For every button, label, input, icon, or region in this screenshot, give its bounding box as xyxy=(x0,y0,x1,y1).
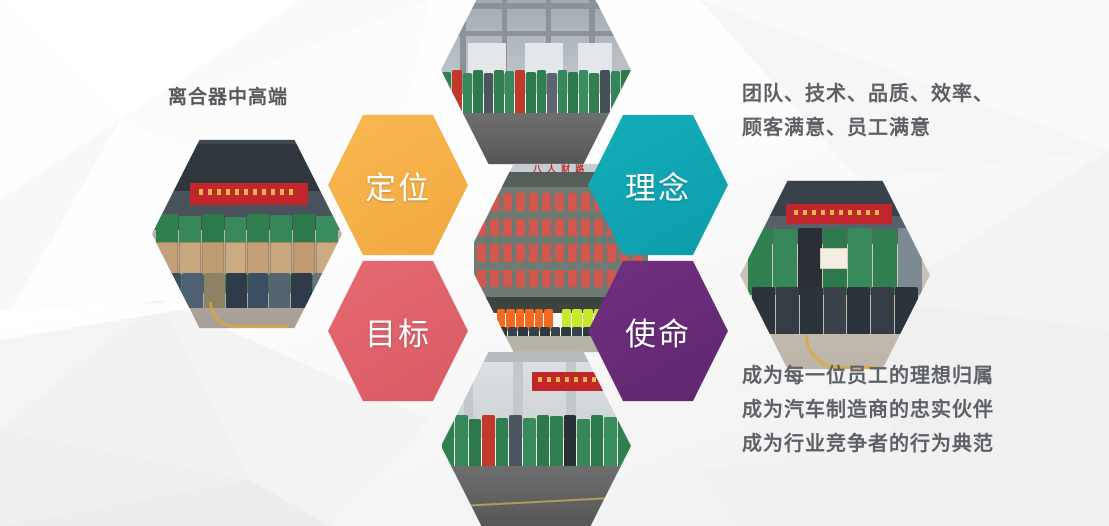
right-bottom-caption-line-3: 成为行业竞争者的行为典范 xyxy=(742,426,994,460)
right-bottom-caption-block: 成为每一位员工的理想归属 成为汽车制造商的忠实伙伴 成为行业竞争者的行为典范 xyxy=(742,358,994,460)
hex-positioning[interactable]: 定位 xyxy=(328,112,468,258)
award-boxes-photo xyxy=(152,136,342,332)
photo-hex-bottom-sports-meeting xyxy=(441,348,631,526)
factory-group-photo xyxy=(441,0,631,168)
sports-meeting-photo xyxy=(441,348,631,526)
photo-hex-top-factory-group xyxy=(441,0,631,168)
hex-goal[interactable]: 目标 xyxy=(328,258,468,404)
hex-positioning-label: 定位 xyxy=(328,112,468,258)
award-certificate-photo xyxy=(740,177,930,373)
right-top-caption-block: 团队、技术、品质、效率、 顾客满意、员工满意 xyxy=(742,76,994,144)
right-top-caption-line-2: 顾客满意、员工满意 xyxy=(742,110,994,144)
right-bottom-caption-line-1: 成为每一位员工的理想归属 xyxy=(742,358,994,392)
left-caption-title: 离合器中高端 xyxy=(168,82,288,109)
right-bottom-caption-line-2: 成为汽车制造商的忠实伙伴 xyxy=(742,392,994,426)
hex-goal-label: 目标 xyxy=(328,258,468,404)
photo-hex-right-award-certificate xyxy=(740,177,930,373)
left-caption-block: 离合器中高端 xyxy=(168,82,288,109)
right-top-caption-line-1: 团队、技术、品质、效率、 xyxy=(742,76,994,110)
infographic-canvas: 八 人 财 路 xyxy=(0,0,1109,526)
photo-hex-left-award-boxes xyxy=(152,136,342,332)
